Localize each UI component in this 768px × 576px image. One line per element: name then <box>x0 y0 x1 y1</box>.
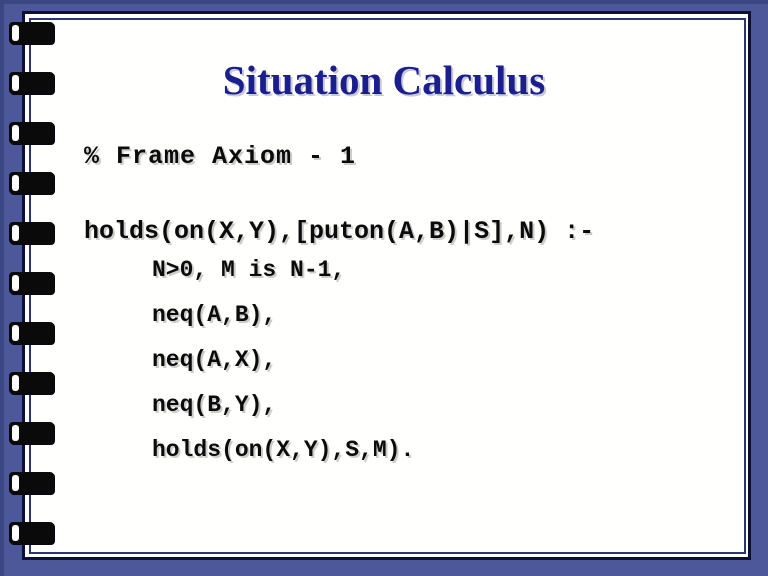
code-clause-body-line-4: neq(B,Y), <box>84 383 744 428</box>
spiral-binding-ring <box>9 522 54 544</box>
spiral-binding-ring <box>9 22 54 44</box>
slide-background-top-edge <box>0 0 768 4</box>
code-comment-line: % Frame Axiom - 1 <box>84 142 744 172</box>
spiral-binding-ring <box>9 422 54 444</box>
spiral-binding-ring <box>9 222 54 244</box>
spiral-binding-ring <box>9 372 54 394</box>
code-clause-head: holds(on(X,Y),[puton(A,B)|S],N) :- <box>84 216 744 248</box>
code-clause-body-line-1: N>0, M is N-1, <box>84 248 744 293</box>
spiral-binding-ring <box>9 472 54 494</box>
presentation-slide: Situation Calculus % Frame Axiom - 1 hol… <box>0 0 768 576</box>
spiral-binding-ring <box>9 122 54 144</box>
spiral-binding-ring <box>9 172 54 194</box>
spiral-binding-ring <box>9 272 54 294</box>
code-clause-body-line-2: neq(A,B), <box>84 293 744 338</box>
code-block-spacer <box>84 172 744 216</box>
spiral-binding-ring <box>9 322 54 344</box>
slide-title: Situation Calculus <box>0 56 768 104</box>
slide-code-block: % Frame Axiom - 1 holds(on(X,Y),[puton(A… <box>84 142 744 473</box>
code-clause-body-line-5: holds(on(X,Y),S,M). <box>84 428 744 473</box>
code-clause-body-line-3: neq(A,X), <box>84 338 744 383</box>
